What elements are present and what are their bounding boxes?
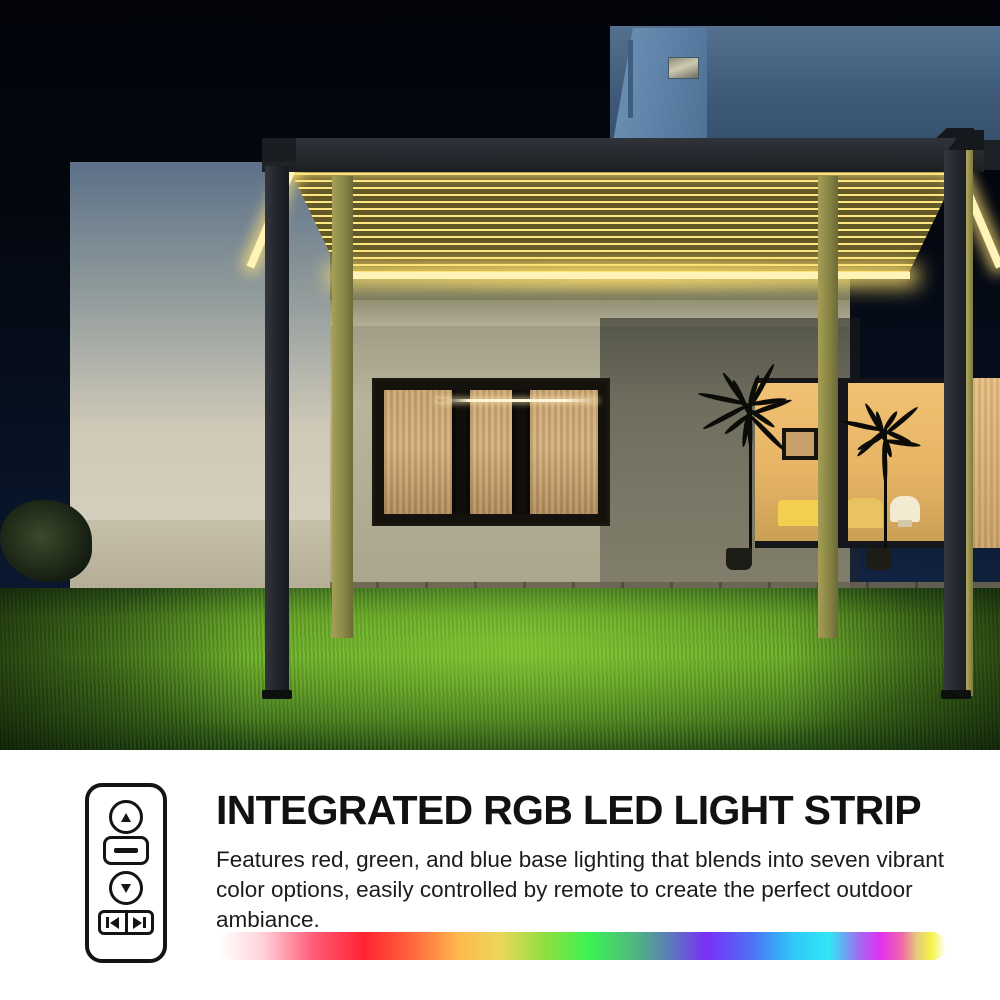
pergola-post-front-left [265,166,289,696]
pergola-post-back-left [332,176,353,638]
remote-brightness-down-button[interactable] [109,871,143,905]
rgb-color-spectrum-bar [218,932,946,960]
triangle-down-icon [119,883,133,894]
pergola-corner-left [262,138,296,162]
post-foot [262,690,292,699]
remote-mode-buttons [98,910,154,935]
skip-next-icon [133,917,146,929]
led-remote-control[interactable] [85,783,167,963]
feature-panel: INTEGRATED RGB LED LIGHT STRIP Features … [0,750,1000,1000]
pergola-post-edge-right [966,150,973,696]
skip-previous-icon [106,917,119,929]
pergola-top-beam [262,138,984,172]
hero-photo [0,0,1000,750]
dash-icon [114,848,138,853]
feature-headline: INTEGRATED RGB LED LIGHT STRIP [216,790,976,831]
remote-next-mode-button[interactable] [125,913,152,932]
triangle-up-icon [119,812,133,823]
remote-previous-mode-button[interactable] [101,913,125,932]
remote-brightness-up-button[interactable] [109,800,143,834]
post-foot [941,690,971,699]
pergola-post-back-right [818,176,838,638]
product-feature-page: INTEGRATED RGB LED LIGHT STRIP Features … [0,0,1000,1000]
feature-body-text: Features red, green, and blue base light… [216,845,956,935]
remote-power-button[interactable] [103,836,149,865]
pergola-structure [0,0,1000,750]
